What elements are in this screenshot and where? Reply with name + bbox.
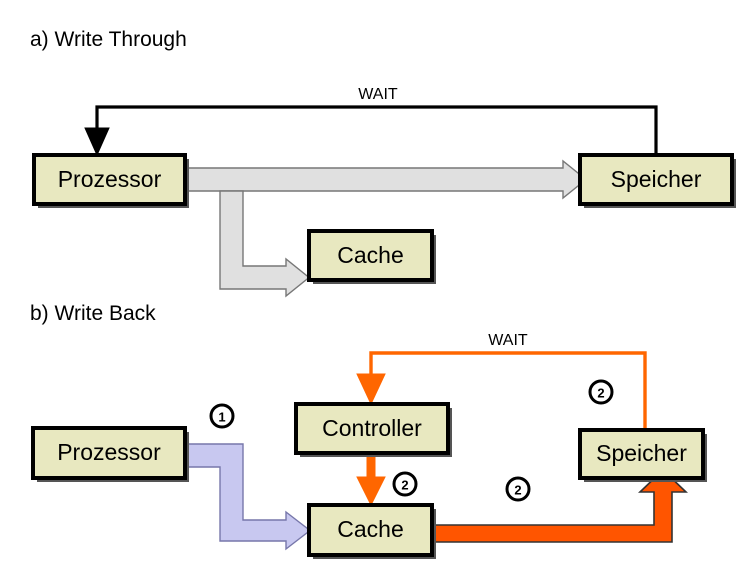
step-label-2-controller-cache: 2 [401, 478, 408, 493]
box-controller-b[interactable]: Controller [296, 404, 452, 457]
controller-cache-arrowhead [357, 477, 385, 505]
box-processor-b[interactable]: Prozessor [33, 428, 189, 482]
gray-arrow-shape-main [186, 161, 586, 198]
step-label-2-cache-memory: 2 [514, 483, 521, 498]
wait-label-a: WAIT [358, 86, 398, 103]
wait-line-a [97, 107, 656, 155]
gray-arrow-processor-to-memory-a [186, 161, 586, 198]
step-marker-2-cache-memory: 2 [507, 478, 529, 500]
wait-arrowhead-b [357, 374, 385, 404]
gray-arrow-processor-to-cache-a [220, 191, 309, 296]
gray-arrow-shape-branch [220, 191, 309, 296]
box-label-memory-b: Speicher [596, 440, 687, 466]
lavender-arrow-processor-to-cache-b [186, 444, 310, 549]
diagram-canvas: a) Write Through WAIT Prozessor [0, 0, 751, 580]
box-label-cache-b: Cache [337, 516, 403, 542]
step-label-2-wait: 2 [597, 386, 604, 401]
box-label-cache-a: Cache [337, 242, 403, 268]
box-memory-b[interactable]: Speicher [580, 430, 707, 482]
section-a-title: a) Write Through [30, 28, 187, 51]
box-processor-a[interactable]: Prozessor [34, 155, 189, 208]
section-b-title: b) Write Back [30, 302, 156, 325]
box-label-processor-a: Prozessor [58, 166, 162, 192]
orange-arrow-controller-to-cache-b [357, 453, 385, 505]
lavender-arrow-shape [186, 444, 310, 549]
step-marker-2-wait: 2 [590, 381, 612, 403]
box-memory-a[interactable]: Speicher [580, 155, 736, 208]
box-cache-a[interactable]: Cache [309, 231, 436, 284]
step-label-1: 1 [218, 410, 225, 425]
section-b-group: b) Write Back WAIT [30, 302, 707, 559]
step-marker-1: 1 [211, 405, 233, 427]
step-marker-2-controller-cache: 2 [394, 473, 416, 495]
box-label-processor-b: Prozessor [57, 439, 161, 465]
wait-arrow-a: WAIT [85, 86, 656, 155]
box-label-controller-b: Controller [322, 415, 422, 441]
box-label-memory-a: Speicher [611, 166, 702, 192]
cache-write-policy-diagram: a) Write Through WAIT Prozessor [0, 0, 751, 580]
wait-arrowhead-a [85, 128, 109, 155]
box-cache-b[interactable]: Cache [309, 505, 436, 559]
section-a-group: a) Write Through WAIT Prozessor [30, 28, 736, 296]
wait-label-b: WAIT [488, 332, 528, 349]
